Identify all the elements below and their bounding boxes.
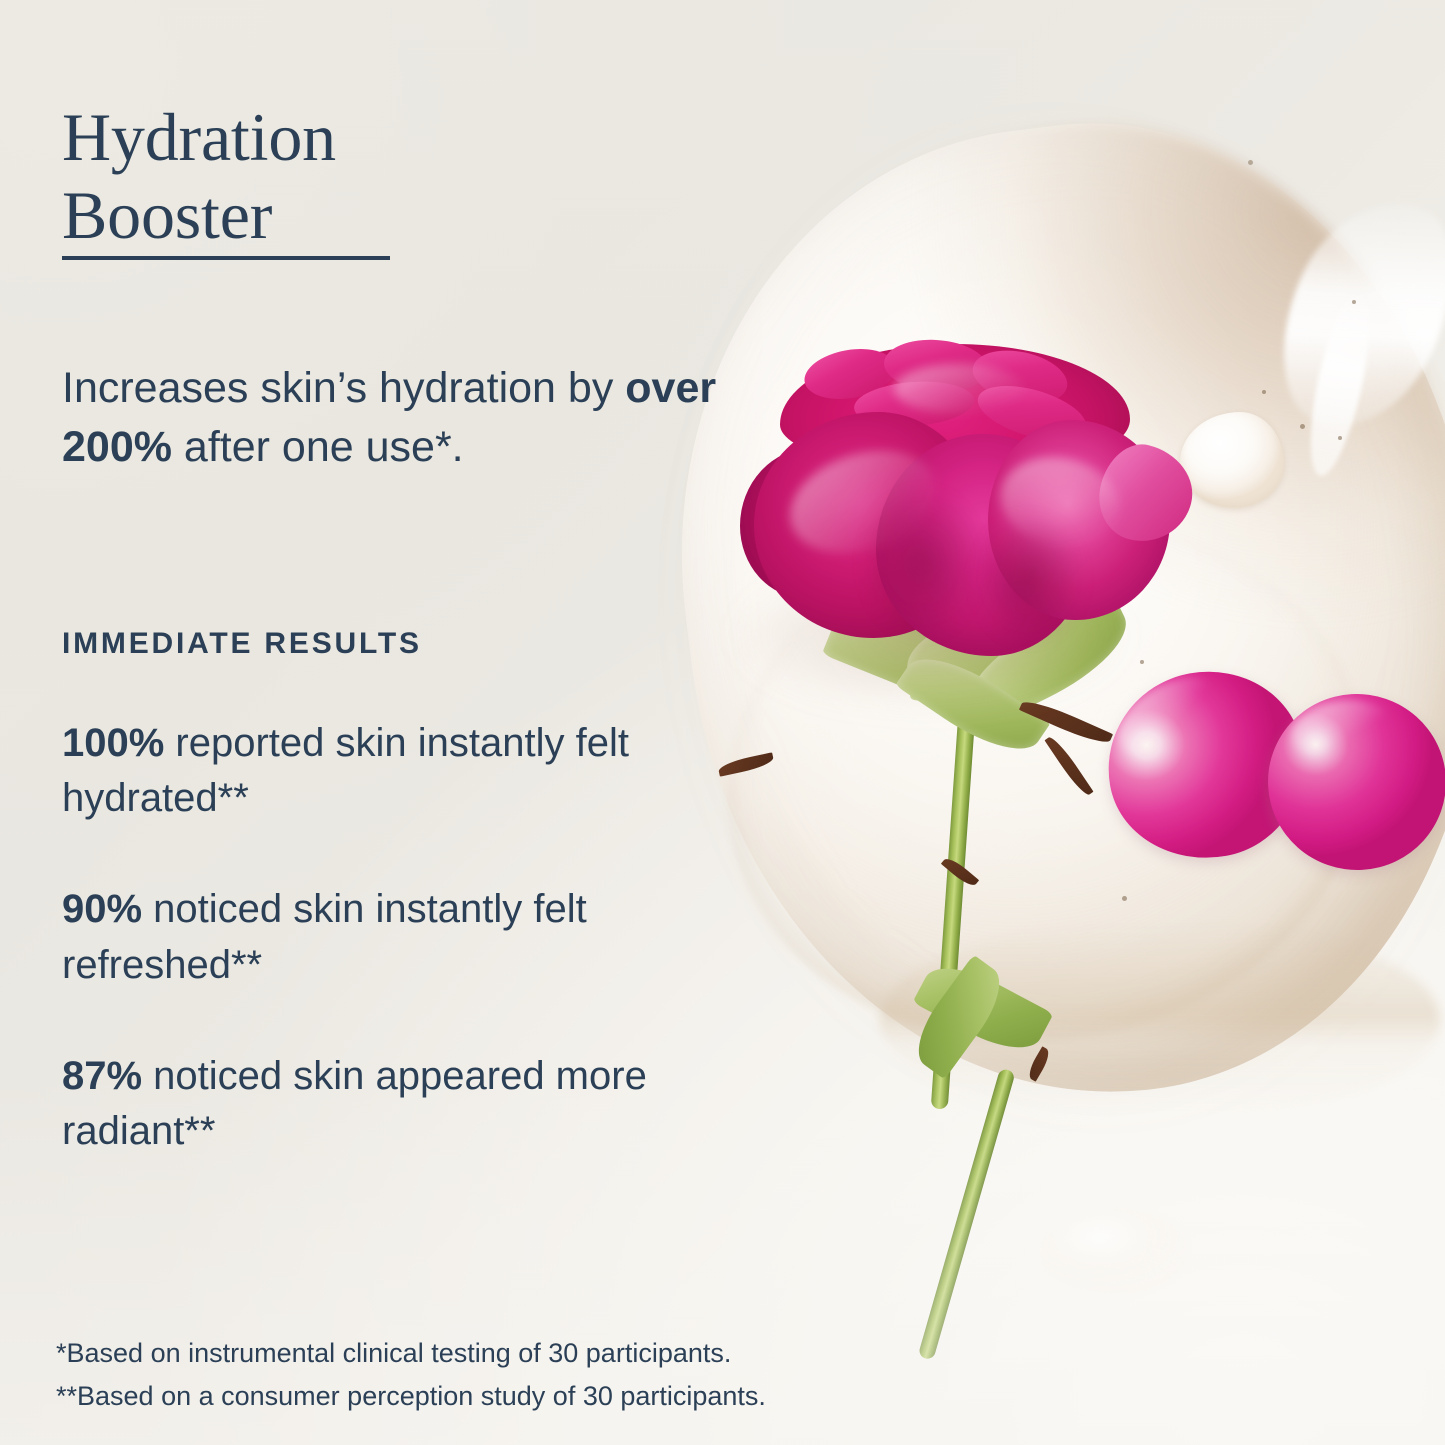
- stat-value: 87%: [62, 1054, 142, 1098]
- hero-claim: Increases skin’s hydration by over 200% …: [62, 359, 782, 478]
- title-line-2: Booster: [62, 177, 272, 253]
- product-claims-graphic: Hydration Booster Increases skin’s hydra…: [0, 0, 1445, 1445]
- results-list: 100% reported skin instantly felt hydrat…: [62, 676, 762, 1215]
- claims-content: Hydration Booster Increases skin’s hydra…: [0, 0, 1445, 1445]
- list-item: 100% reported skin instantly felt hydrat…: [62, 716, 762, 826]
- list-item: 90% noticed skin instantly felt refreshe…: [62, 882, 762, 992]
- list-item: 87% noticed skin appeared more radiant**: [62, 1049, 762, 1159]
- page-title: Hydration Booster: [62, 98, 702, 254]
- stat-value: 100%: [62, 721, 164, 765]
- stat-value: 90%: [62, 887, 142, 931]
- title-divider: [62, 256, 390, 260]
- footnote-single-asterisk: *Based on instrumental clinical testing …: [56, 1332, 1056, 1375]
- footnotes: *Based on instrumental clinical testing …: [56, 1332, 1056, 1417]
- footnote-double-asterisk: **Based on a consumer perception study o…: [56, 1375, 1056, 1418]
- hero-claim-after: after one use*.: [172, 423, 464, 471]
- results-heading: IMMEDIATE RESULTS: [62, 627, 422, 661]
- hero-claim-before: Increases skin’s hydration by: [62, 364, 625, 412]
- stat-text: noticed skin appeared more radiant**: [62, 1054, 647, 1153]
- title-line-1: Hydration: [62, 99, 336, 175]
